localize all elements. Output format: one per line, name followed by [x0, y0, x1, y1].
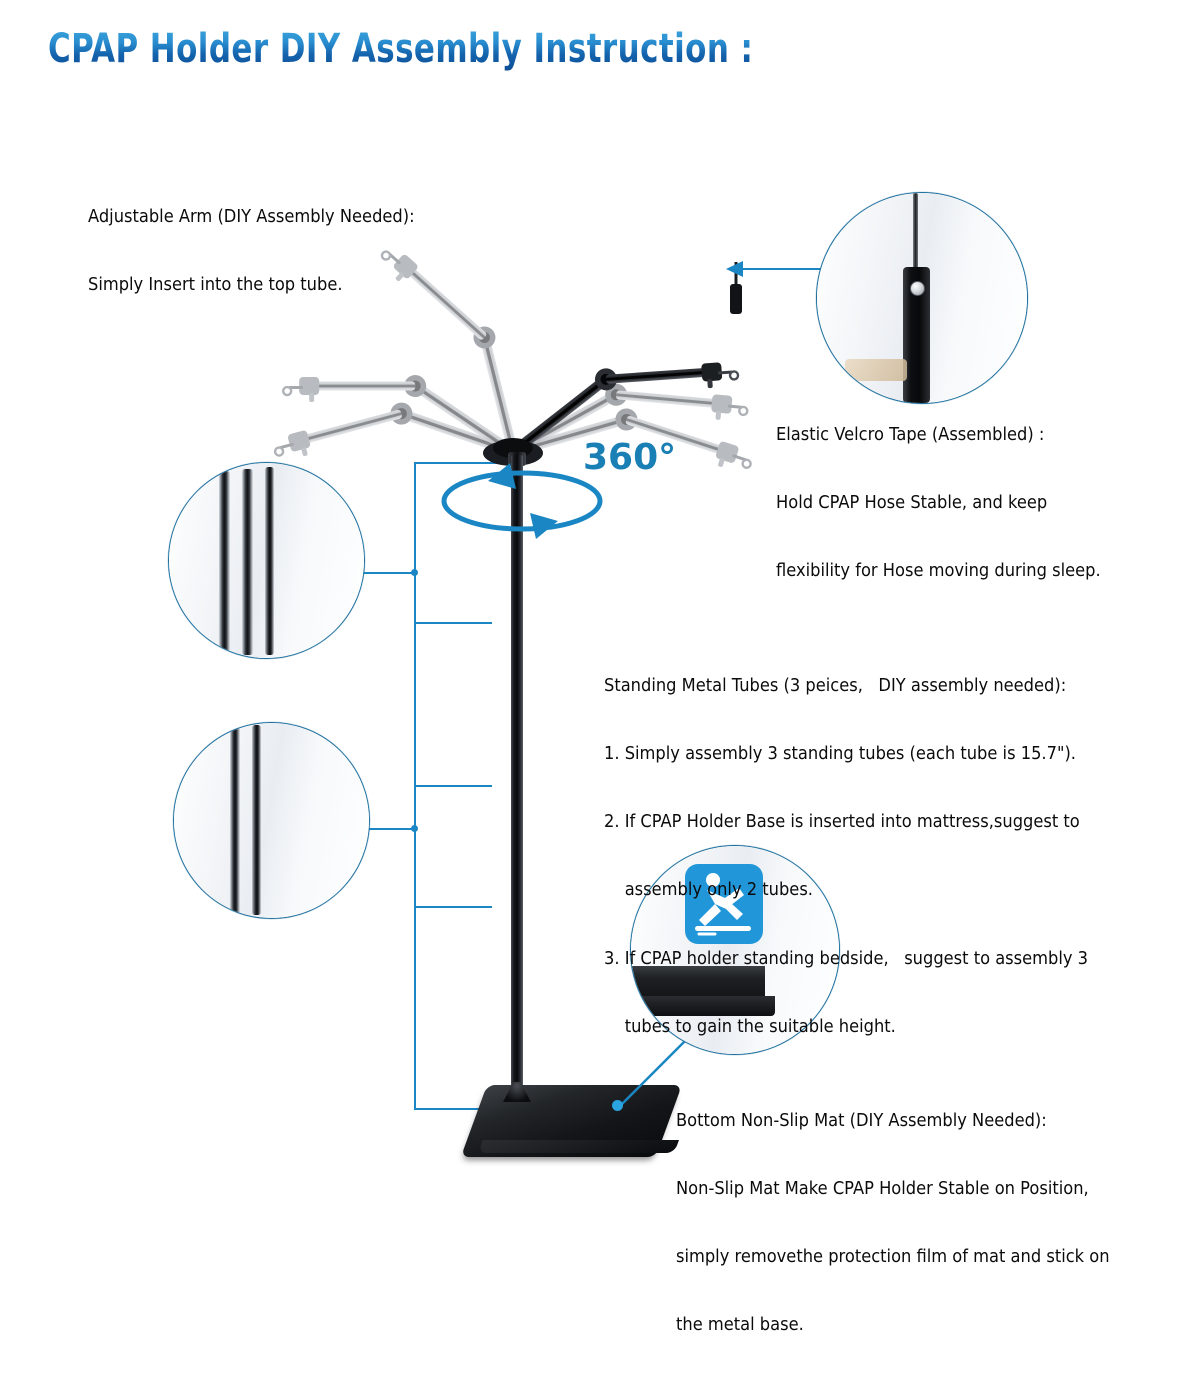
annotation-adjustable-arm: Adjustable Arm (DIY Assembly Needed): Si…: [88, 160, 415, 342]
standing-pole: [511, 455, 523, 1095]
annotation-line: Hold CPAP Hose Stable, and keep: [776, 492, 1101, 515]
annotation-line: the metal base.: [676, 1314, 1110, 1337]
annotation-line: 1. Simply assembly 3 standing tubes (eac…: [604, 743, 1088, 766]
strap-tail: [913, 193, 918, 273]
annotation-standing-tubes: Standing Metal Tubes (3 peices, DIY asse…: [604, 629, 1088, 1084]
callout-velcro-strap: [816, 192, 1028, 404]
metal-tube-1: [219, 471, 230, 653]
annotation-line: Elastic Velcro Tape (Assembled) :: [776, 424, 1101, 447]
leader-dot-mat: [612, 1100, 623, 1111]
metal-base-edge: [478, 1140, 679, 1153]
annotation-non-slip-mat: Bottom Non-Slip Mat (DIY Assembly Needed…: [676, 1064, 1110, 1383]
annotation-velcro-tape: Elastic Velcro Tape (Assembled) : Hold C…: [776, 378, 1101, 628]
annotation-line: 2. If CPAP Holder Base is inserted into …: [604, 811, 1088, 834]
annotation-line: flexibility for Hose moving during sleep…: [776, 560, 1101, 583]
tube-bracket-tick-2: [414, 622, 492, 624]
annotation-line: 3. If CPAP holder standing bedside, sugg…: [604, 948, 1088, 971]
instruction-diagram: CPAP Holder DIY Assembly Instruction :: [0, 0, 1200, 1200]
annotation-line: simply removethe protection film of mat …: [676, 1246, 1110, 1269]
tube-bracket-tick-3: [414, 785, 492, 787]
annotation-line: assembly only 2 tubes.: [604, 879, 1088, 902]
leader-dot-three-tubes: [411, 569, 418, 576]
annotation-line: Bottom Non-Slip Mat (DIY Assembly Needed…: [676, 1110, 1110, 1133]
rivet-icon: [910, 281, 925, 296]
rotation-label: 360°: [583, 437, 676, 478]
metal-tube-1: [230, 727, 240, 915]
callout-two-tubes: [173, 722, 370, 919]
metal-tube-2: [252, 725, 261, 915]
leader-dot-two-tubes: [411, 825, 418, 832]
callout-background: [174, 723, 369, 918]
leader-arrow-velcro: [726, 260, 746, 278]
metal-tube-2: [242, 469, 253, 655]
page-title: CPAP Holder DIY Assembly Instruction :: [48, 26, 753, 72]
annotation-line: Non-Slip Mat Make CPAP Holder Stable on …: [676, 1178, 1110, 1201]
annotation-line: tubes to gain the suitable height.: [604, 1016, 1088, 1039]
callout-three-tubes: [168, 462, 365, 659]
tube-bracket-tick-4: [414, 906, 492, 908]
annotation-line: Simply Insert into the top tube.: [88, 274, 415, 297]
annotation-line: Standing Metal Tubes (3 peices, DIY asse…: [604, 675, 1088, 698]
metal-tube-3: [265, 467, 274, 655]
annotation-line: Adjustable Arm (DIY Assembly Needed):: [88, 206, 415, 229]
